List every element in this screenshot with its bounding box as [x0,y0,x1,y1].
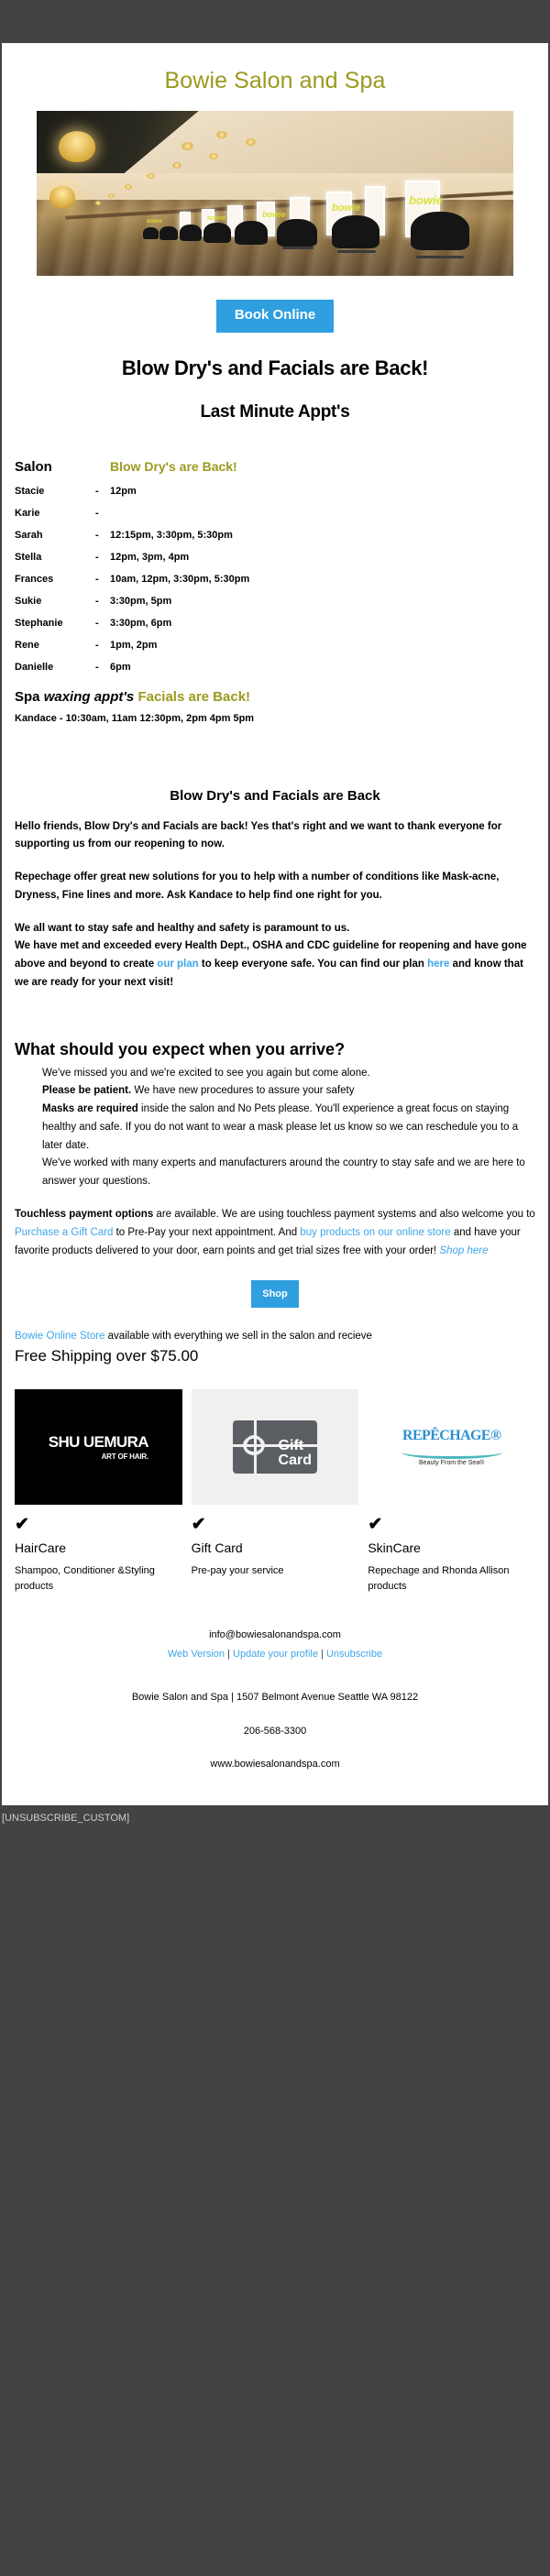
book-online-button[interactable]: Book Online [216,300,334,333]
chandelier-icon [59,131,95,162]
check-icon: ✔ [368,1505,535,1533]
card-gift-card[interactable]: Gift Card ✔ Gift Card Pre-pay your servi… [192,1389,359,1595]
stylist-times: 6pm [110,656,535,678]
stylist-times: 3:30pm, 5pm [110,590,535,612]
table-row: Stella - 12pm, 3pm, 4pm [15,546,535,568]
top-dark-bar [0,0,550,43]
paragraph-3: We all want to stay safe and healthy and… [15,920,535,992]
headline-secondary: Last Minute Appt's [2,402,548,422]
our-plan-link[interactable]: our plan [157,959,198,970]
stylist-times: 3:30pm, 6pm [110,612,535,634]
shop-button-row: Shop [2,1260,548,1308]
table-row: Sarah - 12:15pm, 3:30pm, 5:30pm [15,524,535,546]
gift-card-icon: Gift Card [192,1389,359,1505]
dash: - [95,590,110,612]
salon-promo-label: Blow Dry's are Back! [110,454,535,480]
product-cards: SHU UEMURA ART OF HAIR. ✔ HairCare Shamp… [2,1365,548,1595]
table-row: Frances - 10am, 12pm, 3:30pm, 5:30pm [15,568,535,590]
stylist-name: Frances [15,568,95,590]
repechage-tagline: Beauty From the Sea® [401,1460,502,1466]
check-icon: ✔ [192,1505,359,1533]
purchase-gift-card-link[interactable]: Purchase a Gift Card [15,1227,113,1238]
online-store-line: Bowie Online Store available with everyt… [2,1308,548,1344]
repechage-logo-icon: REPÊCHAGE® Beauty From the Sea® [368,1389,535,1505]
shu-uemura-tagline: ART OF HAIR. [49,1452,148,1461]
footer-address: Bowie Salon and Spa | 1507 Belmont Avenu… [15,1664,535,1707]
spa-waxing-label: waxing appt's [44,689,135,705]
card-word: Card [279,1453,312,1468]
card-skincare[interactable]: REPÊCHAGE® Beauty From the Sea® ✔ SkinCa… [368,1389,535,1595]
email-body: Bowie Salon and Spa [0,43,550,1805]
stylist-times: 12pm [110,480,535,502]
table-header-row: Salon Blow Dry's are Back! [15,454,535,480]
safety-line-3: to keep everyone safe. You can find our … [199,959,427,970]
footer-phone: 206-568-3300 [15,1707,535,1741]
body-copy: Hello friends, Blow Dry's and Facials ar… [2,818,548,992]
stylist-name: Sarah [15,524,95,546]
table-row: Rene - 1pm, 2pm [15,634,535,656]
dash: - [95,656,110,678]
touchless-label: Touchless payment options [15,1209,153,1220]
dash: - [95,480,110,502]
shop-here-link[interactable]: Shop here [439,1245,488,1256]
stylist-name: Stacie [15,480,95,502]
gift-word: Gift [279,1439,312,1453]
appointments-table: Salon Blow Dry's are Back! Stacie - 12pm… [2,422,548,724]
bowie-online-store-link[interactable]: Bowie Online Store [15,1331,104,1342]
table-row: Danielle - 6pm [15,656,535,678]
unsubscribe-token: [UNSUBSCRIBE_CUSTOM] [0,1805,550,1824]
book-online-row: Book Online [2,276,548,333]
online-store-link[interactable]: buy products on our online store [300,1227,450,1238]
touchless-text-2: to Pre-Pay your next appointment. And [113,1227,300,1238]
dash: - [95,634,110,656]
section-heading: Blow Dry's and Facials are Back [2,788,548,804]
stylist-name: Danielle [15,656,95,678]
expect-line-2: We have new procedures to assure your sa… [131,1085,354,1096]
stylist-name: Rene [15,634,95,656]
masks-required-label: Masks are required [42,1103,138,1114]
stylist-times: 1pm, 2pm [110,634,535,656]
dash: - [95,568,110,590]
salon-interior-photo: bowie bowie bowie bowie bowie [37,111,513,276]
hero-image-wrapper: bowie bowie bowie bowie bowie [2,111,548,276]
spa-section-header: Spa waxing appt's Facials are Back! [15,678,535,705]
card-title: Gift Card [192,1540,359,1555]
shop-button[interactable]: Shop [251,1280,299,1308]
paragraph-2: Repechage offer great new solutions for … [15,869,535,905]
here-link[interactable]: here [427,959,449,970]
shu-uemura-logo-icon: SHU UEMURA ART OF HAIR. [15,1389,182,1505]
card-description: Shampoo, Conditioner &Styling products [15,1563,182,1595]
table-row: Stephanie - 3:30pm, 6pm [15,612,535,634]
expect-line-1: We've missed you and we're excited to se… [42,1068,370,1079]
footer: info@bowiesalonandspa.com Web Version | … [2,1595,548,1805]
check-icon: ✔ [15,1505,182,1533]
footer-website: www.bowiesalonandspa.com [15,1740,535,1805]
card-title: HairCare [15,1540,182,1555]
spa-promo-label: Facials are Back! [137,689,250,705]
stylist-name: Stephanie [15,612,95,634]
stylist-times: 12pm, 3pm, 4pm [110,546,535,568]
stylist-name: Sukie [15,590,95,612]
touchless-payment-copy: Touchless payment options are available.… [2,1191,548,1260]
headline-primary: Blow Dry's and Facials are Back! [2,356,548,380]
spa-appointment-row: Kandace - 10:30am, 11am 12:30pm, 2pm 4pm… [15,705,535,724]
expect-line-4: We've worked with many experts and manuf… [42,1157,525,1187]
stylist-times [110,502,535,524]
link-separator: | [225,1649,233,1660]
store-availability-text: available with everything we sell in the… [104,1331,372,1342]
table-row: Stacie - 12pm [15,480,535,502]
please-be-patient-label: Please be patient. [42,1085,131,1096]
safety-line-1: We all want to stay safe and healthy and… [15,923,349,934]
expect-copy: We've missed you and we're excited to se… [2,1059,548,1191]
dash: - [95,524,110,546]
stylist-name: Stella [15,546,95,568]
table-row: Karie - [15,502,535,524]
dash: - [95,502,110,524]
stylist-name: Karie [15,502,95,524]
unsubscribe-link[interactable]: Unsubscribe [326,1649,382,1660]
footer-email: info@bowiesalonandspa.com [15,1626,535,1645]
card-haircare[interactable]: SHU UEMURA ART OF HAIR. ✔ HairCare Shamp… [15,1389,182,1595]
chandelier-icon [49,186,75,208]
stylist-times: 10am, 12pm, 3:30pm, 5:30pm [110,568,535,590]
web-version-link[interactable]: Web Version [168,1649,225,1660]
card-description: Pre-pay your service [192,1563,359,1579]
dash: - [95,546,110,568]
card-title: SkinCare [368,1540,535,1555]
card-description: Repechage and Rhonda Allison products [368,1563,535,1595]
shu-uemura-wordmark: SHU UEMURA [49,1433,148,1452]
wave-icon [401,1446,502,1459]
repechage-wordmark: REPÊCHAGE® [401,1428,502,1444]
stylist-times: 12:15pm, 3:30pm, 5:30pm [110,524,535,546]
footer-links: Web Version | Update your profile | Unsu… [15,1645,535,1664]
free-shipping-text: Free Shipping over $75.00 [2,1345,548,1365]
table-row: Sukie - 3:30pm, 5pm [15,590,535,612]
salon-label: Salon [15,454,95,480]
expect-heading: What should you expect when you arrive? [2,992,548,1059]
paragraph-1: Hello friends, Blow Dry's and Facials ar… [15,818,535,855]
update-profile-link[interactable]: Update your profile [233,1649,318,1660]
touchless-text-1: are available. We are using touchless pa… [153,1209,535,1220]
spa-label: Spa [15,689,40,705]
page-title: Bowie Salon and Spa [2,43,548,111]
dash: - [95,612,110,634]
link-separator: | [318,1649,326,1660]
